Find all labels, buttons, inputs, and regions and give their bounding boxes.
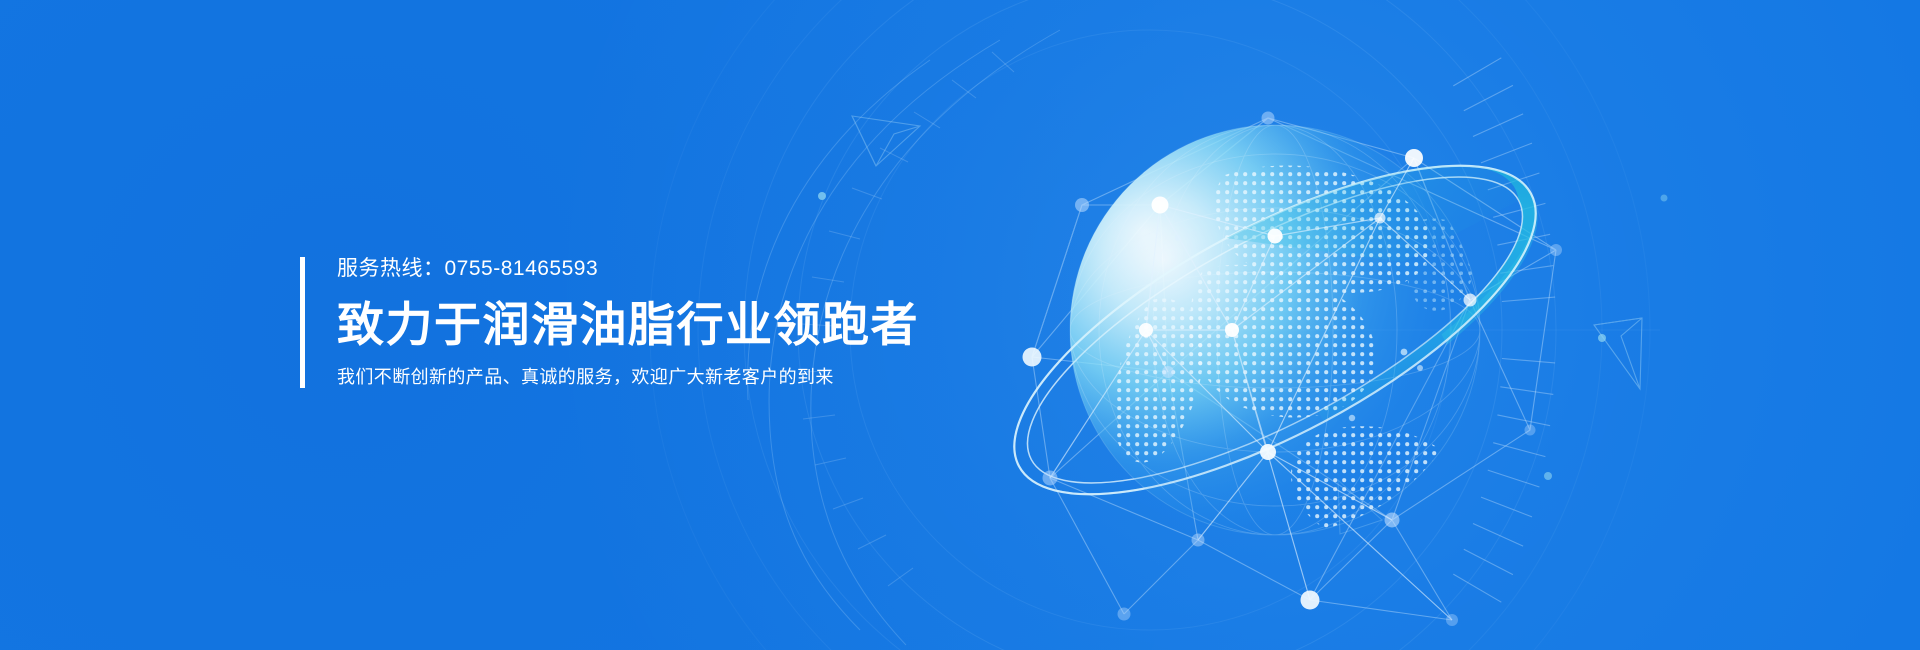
network-mesh-back <box>1032 118 1556 620</box>
wireframe-triangle-right <box>1594 318 1642 389</box>
orbit-ring-front <box>970 102 1580 558</box>
globe-sphere <box>1070 125 1480 549</box>
network-mesh-front <box>1050 158 1470 620</box>
headline-text-block: 服务热线：0755-81465593 致力于润滑油脂行业领跑者 我们不断创新的产… <box>300 257 919 388</box>
service-hotline: 服务热线：0755-81465593 <box>337 258 919 279</box>
background-glow <box>0 0 1920 650</box>
promo-banner: 服务热线：0755-81465593 致力于润滑油脂行业领跑者 我们不断创新的产… <box>0 0 1920 650</box>
arc-tick-marks <box>1453 58 1555 602</box>
continent-dots <box>1070 125 1480 549</box>
network-globe-illustration <box>0 0 1920 650</box>
orbit-ring-back <box>970 102 1580 558</box>
page-title: 致力于润滑油脂行业领跑者 <box>337 301 919 348</box>
wireframe-triangle-left <box>852 116 920 166</box>
wireframe-triangle-bottom-left <box>1338 480 1382 534</box>
page-subtitle: 我们不断创新的产品、真诚的服务，欢迎广大新老客户的到来 <box>337 368 919 386</box>
network-nodes <box>818 112 1668 627</box>
